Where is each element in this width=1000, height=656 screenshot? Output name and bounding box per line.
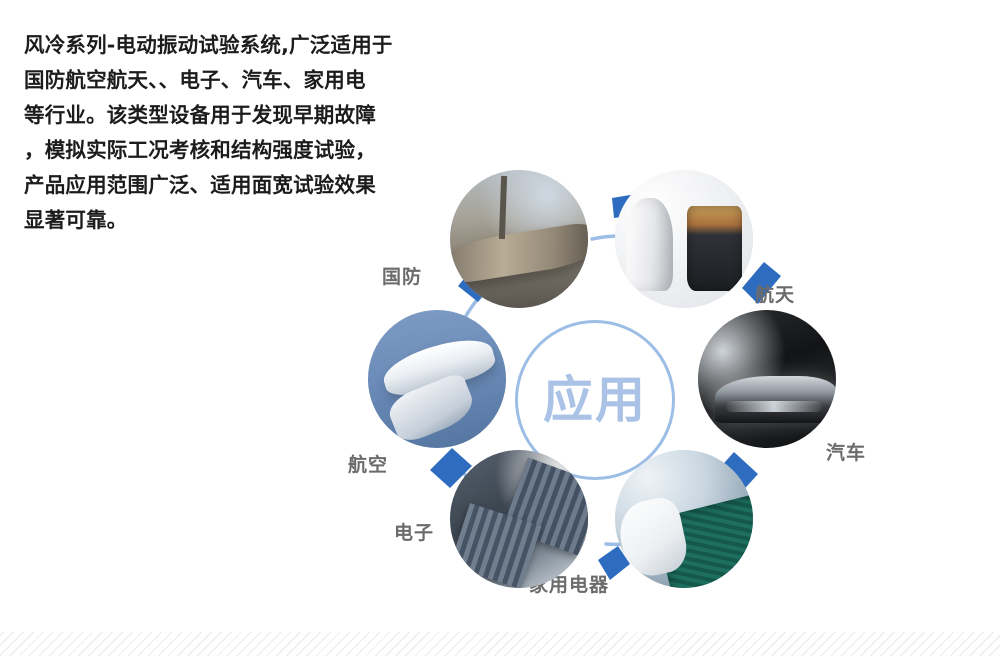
node-automobile[interactable]: 汽车 <box>698 310 836 448</box>
node-electronics-image <box>450 450 588 588</box>
node-aerospace[interactable]: 航天 <box>615 170 753 308</box>
circuit-board-gloved-hand-icon <box>615 450 753 588</box>
node-home-appliance[interactable]: 家用电器 <box>615 450 753 588</box>
node-aerospace-image <box>615 170 753 308</box>
node-defense-image <box>450 170 588 308</box>
diagram-hub-label: 应用 <box>543 375 647 425</box>
node-aviation-label: 航空 <box>348 450 388 477</box>
node-home-appliance-image <box>615 450 753 588</box>
car-front-icon <box>698 310 836 448</box>
bottom-hatch-decoration <box>0 632 1000 656</box>
node-electronics-label: 电子 <box>394 518 434 545</box>
node-aviation[interactable]: 航空 <box>368 310 506 448</box>
node-electronics[interactable]: 电子 <box>450 450 588 588</box>
node-automobile-label: 汽车 <box>826 438 866 465</box>
kitchen-appliances-icon <box>615 170 753 308</box>
airplane-icon <box>368 310 506 448</box>
node-aviation-image <box>368 310 506 448</box>
node-aerospace-label: 航天 <box>755 280 795 307</box>
application-fields-diagram: 应用 国防 航天 汽车 家用电器 电子 <box>330 140 950 640</box>
aircraft-carrier-fighter-jet-icon <box>450 170 588 308</box>
node-defense-label: 国防 <box>382 262 422 289</box>
node-defense[interactable]: 国防 <box>450 170 588 308</box>
node-automobile-image <box>698 310 836 448</box>
satellite-icon <box>450 450 588 588</box>
